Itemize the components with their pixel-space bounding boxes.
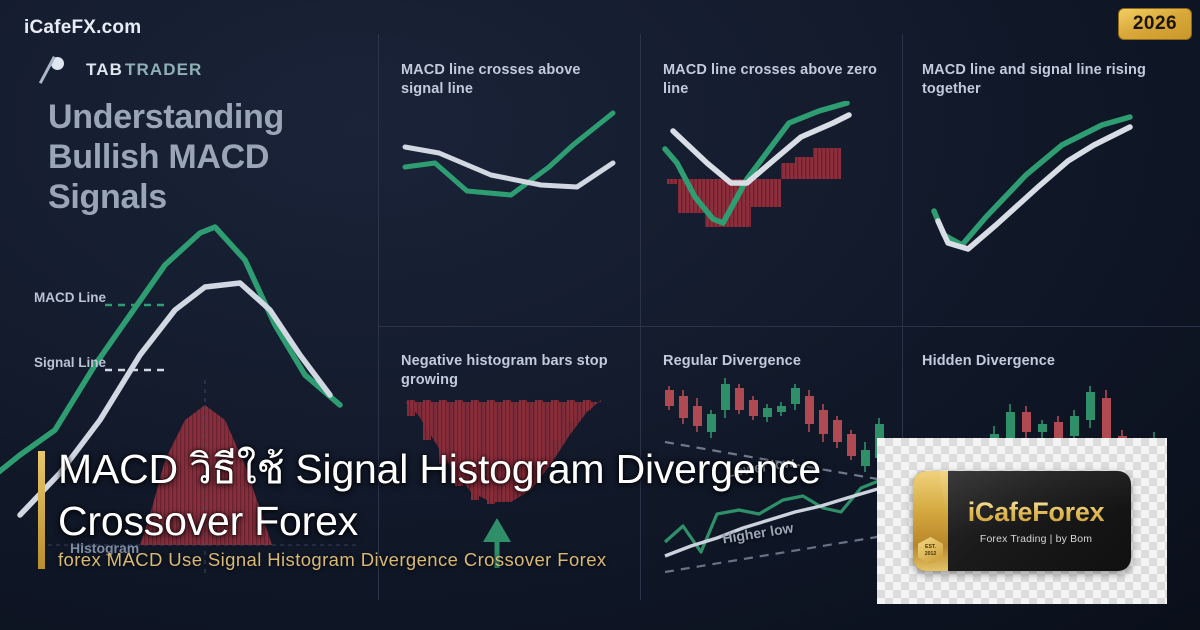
est-year: 2012 <box>925 551 937 558</box>
logo-tagline: Forex Trading | by Bom <box>980 533 1092 545</box>
overlay-title-block: MACD วิธีใช้ Signal Histogram Divergence… <box>0 443 880 593</box>
page-title: Understanding Bullish MACD Signals <box>48 98 358 217</box>
panel-macd-crosses-zero: MACD line crosses above zero line <box>663 61 889 311</box>
signal-line-annotation: Signal Line <box>28 355 106 371</box>
accent-bar <box>38 451 45 569</box>
panel-title: Hidden Divergence <box>922 352 1172 371</box>
year-badge: 2026 <box>1118 8 1192 40</box>
brand-name-tab: TAB <box>86 60 123 80</box>
macd-line-annotation: MACD Line <box>28 290 106 306</box>
panel-title: MACD line and signal line rising togethe… <box>922 61 1162 98</box>
panel-chart-macd-signal-rising <box>922 103 1152 273</box>
overlay-subtitle: forex MACD Use Signal Histogram Divergen… <box>58 549 858 571</box>
panel-title: Regular Divergence <box>663 352 889 371</box>
panel-title: MACD line crosses above signal line <box>401 61 627 98</box>
dot-slash-icon <box>50 55 84 85</box>
panel-chart-macd-crosses-zero <box>661 101 883 276</box>
divider-horizontal <box>378 326 1200 327</box>
infographic-canvas: 2026 iCafeFX.com TAB TRADER Understandin… <box>0 0 1200 630</box>
panel-chart-macd-crosses-signal <box>401 109 621 239</box>
tabtrader-logo: TAB TRADER <box>50 55 202 85</box>
panel-title: MACD line crosses above zero line <box>663 61 889 98</box>
icafeforex-logo-card: EST. 2012 iCafeForex Forex Trading | by … <box>877 438 1167 604</box>
panel-macd-crosses-signal: MACD line crosses above signal line <box>401 61 627 311</box>
overlay-title: MACD วิธีใช้ Signal Histogram Divergence… <box>58 443 868 548</box>
panel-macd-signal-rising: MACD line and signal line rising togethe… <box>922 61 1162 311</box>
site-url-watermark: iCafeFX.com <box>24 17 141 39</box>
logo-plate: EST. 2012 iCafeForex Forex Trading | by … <box>913 471 1131 571</box>
panel-title: Negative histogram bars stop growing <box>401 352 627 389</box>
brand-name-trader: TRADER <box>125 60 202 80</box>
logo-brand-name: iCafeForex <box>968 497 1105 528</box>
